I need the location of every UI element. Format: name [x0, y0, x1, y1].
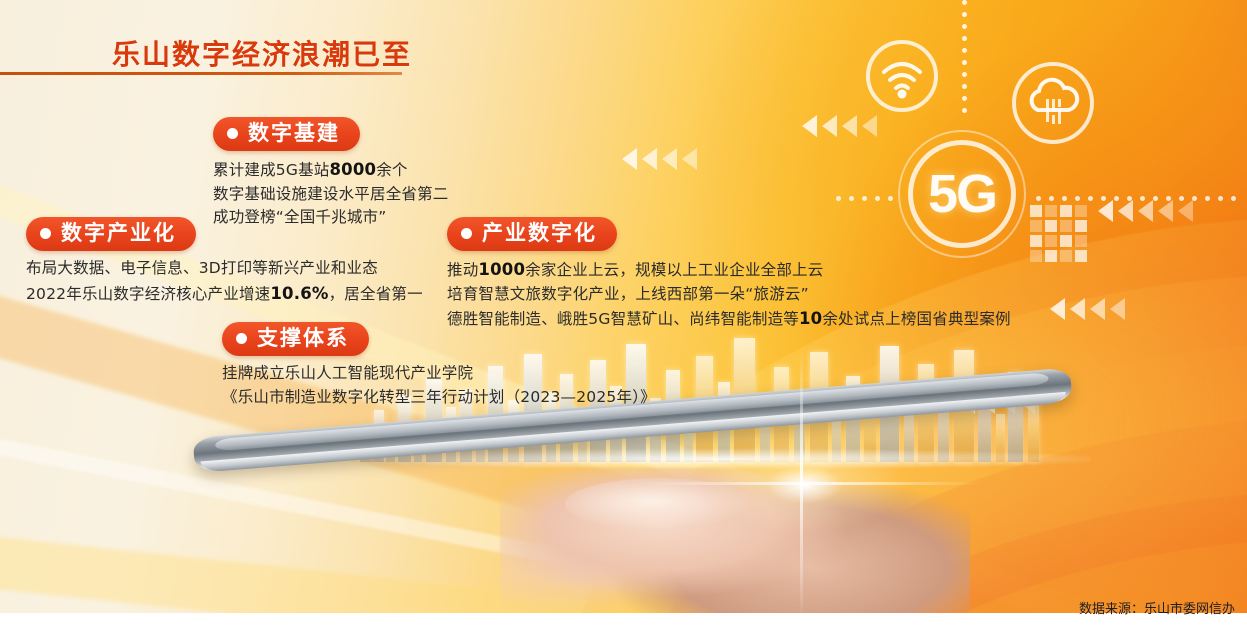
infographic-canvas: 5G 乐山数字经济浪潮已至 数字基建 累计建成5G基站8000余个数字基础设施建… — [0, 0, 1247, 632]
section-support-system: 支撑体系 挂牌成立乐山人工智能现代产业学院《乐山市制造业数字化转型三年行动计划（… — [222, 322, 656, 409]
section-line: 数字基础设施建设水平居全省第二 — [213, 183, 449, 207]
section-line: 累计建成5G基站8000余个 — [213, 157, 449, 183]
section-line: 《乐山市制造业数字化转型三年行动计划（2023—2025年）》 — [222, 386, 656, 410]
section-lines: 推动1000余家企业上云，规模以上工业企业全部上云培育智慧文旅数字化产业，上线西… — [447, 257, 1011, 332]
section-line: 2022年乐山数字经济核心产业增速10.6%，居全省第一 — [26, 281, 423, 307]
data-source-note: 数据来源：乐山市委网信办 — [1079, 598, 1235, 617]
section-line: 推动1000余家企业上云，规模以上工业企业全部上云 — [447, 257, 1011, 283]
section-badge: 支撑体系 — [222, 322, 369, 356]
page-title: 乐山数字经济浪潮已至 — [112, 33, 412, 73]
section-line: 布局大数据、电子信息、3D打印等新兴产业和业态 — [26, 257, 423, 281]
section-lines: 布局大数据、电子信息、3D打印等新兴产业和业态2022年乐山数字经济核心产业增速… — [26, 257, 423, 306]
section-badge: 产业数字化 — [447, 217, 617, 251]
section-line: 挂牌成立乐山人工智能现代产业学院 — [222, 362, 656, 386]
section-digital-infrastructure: 数字基建 累计建成5G基站8000余个数字基础设施建设水平居全省第二成功登榜“全… — [213, 117, 449, 230]
section-badge-label: 数字产业化 — [61, 222, 176, 245]
badge-dot-icon — [227, 128, 238, 139]
title-underline — [0, 72, 402, 75]
section-badge-label: 支撑体系 — [257, 327, 349, 350]
section-line: 培育智慧文旅数字化产业，上线西部第一朵“旅游云” — [447, 283, 1011, 307]
section-badge: 数字产业化 — [26, 217, 196, 251]
section-badge-label: 产业数字化 — [482, 222, 597, 245]
section-badge: 数字基建 — [213, 117, 360, 151]
badge-dot-icon — [40, 228, 51, 239]
section-digital-industrialization: 数字产业化 布局大数据、电子信息、3D打印等新兴产业和业态2022年乐山数字经济… — [26, 217, 423, 306]
content-layer: 乐山数字经济浪潮已至 数字基建 累计建成5G基站8000余个数字基础设施建设水平… — [0, 0, 1247, 632]
section-lines: 挂牌成立乐山人工智能现代产业学院《乐山市制造业数字化转型三年行动计划（2023—… — [222, 362, 656, 409]
section-industrial-digitalization: 产业数字化 推动1000余家企业上云，规模以上工业企业全部上云培育智慧文旅数字化… — [447, 217, 1011, 332]
section-badge-label: 数字基建 — [248, 122, 340, 145]
badge-dot-icon — [236, 333, 247, 344]
badge-dot-icon — [461, 228, 472, 239]
